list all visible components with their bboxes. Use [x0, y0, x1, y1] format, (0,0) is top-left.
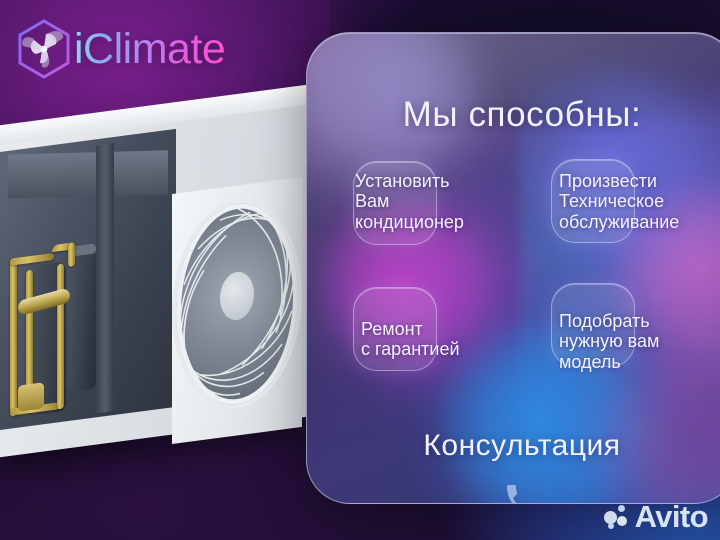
avito-dots-icon — [604, 505, 630, 529]
air-conditioner-unit-image — [0, 138, 306, 458]
ac-valve — [18, 382, 44, 411]
feature-label-install: Установить Вам кондиционер — [355, 171, 545, 232]
ac-pipe — [57, 264, 64, 410]
avito-label: Avito — [635, 501, 708, 532]
consultation-cta-text[interactable]: Консультация — [307, 429, 720, 463]
feature-label-repair: Ремонт с гарантией — [361, 319, 551, 360]
avito-watermark: Avito — [604, 501, 708, 532]
offer-card: Мы способны: Установить Вам кондиционер … — [306, 32, 720, 504]
ac-internals — [0, 129, 176, 430]
feature-label-maintenance: Произвести Техническое обслуживание — [559, 171, 720, 232]
feature-label-selection: Подобрать нужную вам модель — [559, 311, 720, 372]
ac-pipe — [68, 242, 75, 267]
fan-grille-icon — [176, 196, 298, 412]
ac-accumulator — [68, 249, 98, 393]
ac-pipe — [10, 258, 17, 417]
brand-name: iClimate — [74, 28, 225, 71]
phone-icon[interactable] — [502, 478, 542, 504]
promo-banner: iClimate Мы способны: Установить Вам кон… — [0, 0, 720, 540]
hexagon-fan-icon — [16, 18, 72, 80]
brand-logo[interactable]: iClimate — [16, 18, 225, 80]
